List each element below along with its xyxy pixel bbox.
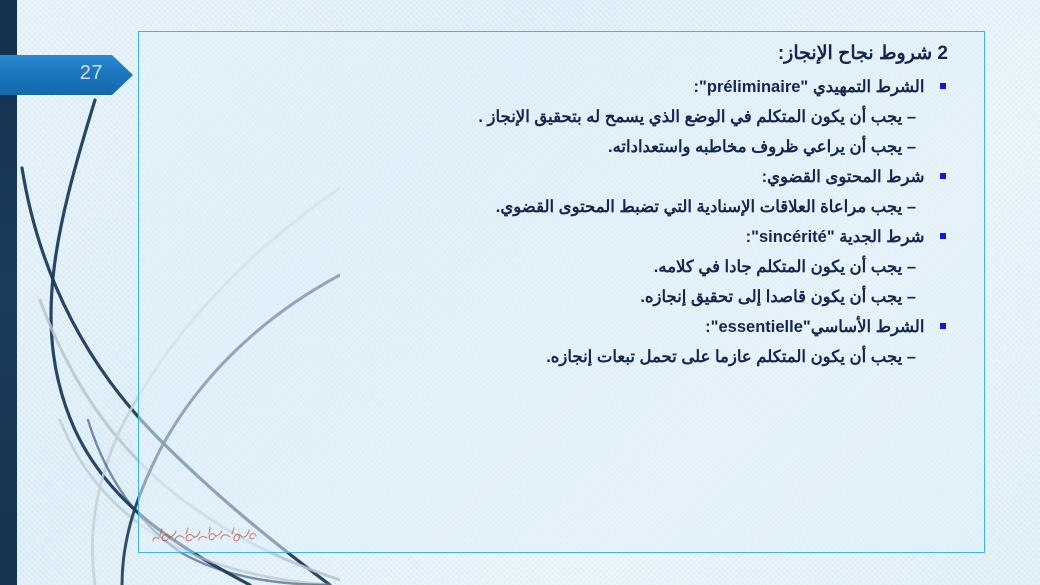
list-item: – يجب أن يكون قاصدا إلى تحقيق إنجازه. (157, 287, 966, 307)
list-item: – يجب أن يكون المتكلم جادا في كلامه. (157, 257, 966, 277)
list-item-label: الشرط الأساسي" (803, 318, 925, 336)
page-title-text: 2 شروط نجاح الإنجاز: (778, 43, 948, 64)
list-item: – يجب أن يكون المتكلم عازما على تحمل تبع… (157, 347, 966, 367)
slide-number: 27 (80, 62, 103, 85)
list-item-label: شرط الجدية " (827, 228, 925, 246)
list-item-suffix: ": (705, 318, 718, 336)
list-item: – يجب أن يراعي ظروف مخاطبه واستعداداته. (157, 137, 966, 157)
list-item: الشرط الأساسي"essentielle": (157, 317, 966, 337)
list-item: شرط المحتوى القضوي: (157, 167, 966, 187)
list-item-latin-term: sincérité (759, 228, 827, 247)
signature-watermark: عبد السلام أحمد (152, 519, 262, 545)
list-item: الشرط التمهيدي "préliminaire": (157, 77, 966, 97)
list-item-label: الشرط التمهيدي " (800, 78, 924, 96)
square-bullet-icon (940, 173, 946, 179)
content-lines: 2 شروط نجاح الإنجاز: الشرط التمهيدي "pré… (139, 32, 984, 377)
banner-chevron-shape (0, 55, 135, 95)
slide: 27 2 شروط نجاح الإنجاز: الشرط التمهيدي "… (0, 0, 1040, 585)
list-item-label: شرط المحتوى القضوي: (762, 168, 925, 186)
square-bullet-icon (940, 323, 946, 329)
list-item: – يجب أن يكون المتكلم في الوضع الذي يسمح… (157, 107, 966, 127)
content-box: 2 شروط نجاح الإنجاز: الشرط التمهيدي "pré… (138, 31, 985, 553)
list-item-latin-term: essentielle (718, 318, 802, 337)
page-title: 2 شروط نجاح الإنجاز: (157, 42, 966, 65)
list-item-suffix: ": (746, 228, 759, 246)
slide-number-banner: 27 (0, 55, 135, 95)
list-item-suffix: ": (694, 78, 707, 96)
list-item: – يجب مراعاة العلاقات الإسنادية التي تضب… (157, 197, 966, 217)
list-item: شرط الجدية "sincérité": (157, 227, 966, 247)
square-bullet-icon (940, 83, 946, 89)
square-bullet-icon (940, 233, 946, 239)
list-item-latin-term: préliminaire (707, 78, 801, 97)
